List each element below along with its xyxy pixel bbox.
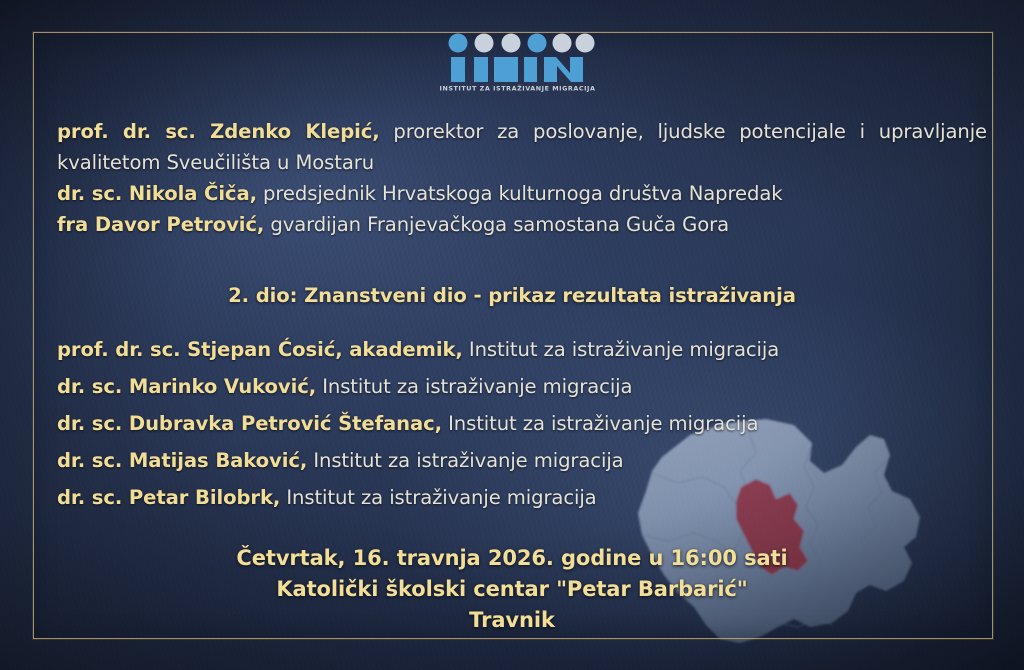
- logo-tagline: INSTITUT ZA ISTRAŽIVANJE MIGRACIJA: [440, 84, 596, 93]
- speaker-affiliation: Institut za istraživanje migracija: [280, 486, 596, 509]
- speaker-affiliation: Institut za istraživanje migracija: [463, 338, 779, 361]
- list-item: dr. sc. Marinko Vuković, Institut za ist…: [57, 371, 987, 402]
- event-details: Četvrtak, 16. travnja 2026. godine u 16:…: [0, 543, 1024, 636]
- part2-speaker-list: prof. dr. sc. Stjepan Ćosić, akademik, I…: [57, 334, 987, 519]
- speaker-name: dr. sc. Matijas Baković,: [57, 449, 307, 472]
- list-item: dr. sc. Nikola Čiča, predsjednik Hrvatsk…: [57, 178, 987, 209]
- event-venue: Katolički školski centar "Petar Barbarić…: [0, 574, 1024, 605]
- speaker-name: fra Davor Petrović,: [57, 213, 264, 236]
- poster-canvas: INSTITUT ZA ISTRAŽIVANJE MIGRACIJA prof.…: [0, 0, 1024, 670]
- speaker-name: dr. sc. Petar Bilobrk,: [57, 486, 280, 509]
- speaker-affiliation: Institut za istraživanje migracija: [316, 375, 632, 398]
- logo-wordmark: [451, 57, 583, 82]
- speaker-name: dr. sc. Dubravka Petrović Štefanac,: [57, 412, 442, 435]
- event-city: Travnik: [0, 605, 1024, 636]
- list-item: fra Davor Petrović, gvardijan Franjevačk…: [57, 209, 987, 240]
- list-item: dr. sc. Dubravka Petrović Štefanac, Inst…: [57, 408, 987, 439]
- speaker-role: predsjednik Hrvatskoga kulturnoga društv…: [257, 182, 783, 205]
- imin-logo: INSTITUT ZA ISTRAŽIVANJE MIGRACIJA: [436, 29, 599, 93]
- part1-speaker-list: prof. dr. sc. Zdenko Klepić, prorektor z…: [57, 116, 987, 240]
- speaker-name: prof. dr. sc. Zdenko Klepić,: [57, 120, 380, 143]
- event-datetime: Četvrtak, 16. travnja 2026. godine u 16:…: [0, 543, 1024, 574]
- logo-head-dots: [449, 34, 595, 53]
- speaker-role: gvardijan Franjevačkoga samostana Guča G…: [264, 213, 729, 236]
- list-item: dr. sc. Petar Bilobrk, Institut za istra…: [57, 482, 987, 513]
- speaker-name: dr. sc. Marinko Vuković,: [57, 375, 316, 398]
- list-item: dr. sc. Matijas Baković, Institut za ist…: [57, 445, 987, 476]
- speaker-name: prof. dr. sc. Stjepan Ćosić, akademik,: [57, 338, 463, 361]
- section-heading: 2. dio: Znanstveni dio - prikaz rezultat…: [0, 284, 1024, 307]
- speaker-affiliation: Institut za istraživanje migracija: [442, 412, 758, 435]
- list-item: prof. dr. sc. Zdenko Klepić, prorektor z…: [57, 116, 987, 178]
- list-item: prof. dr. sc. Stjepan Ćosić, akademik, I…: [57, 334, 987, 365]
- speaker-name: dr. sc. Nikola Čiča,: [57, 182, 257, 205]
- speaker-affiliation: Institut za istraživanje migracija: [307, 449, 623, 472]
